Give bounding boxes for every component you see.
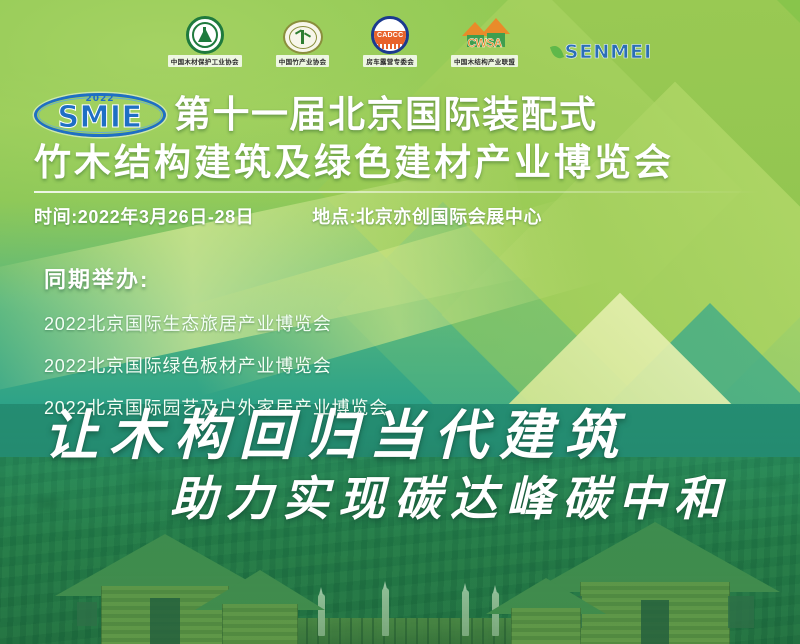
concurrent-events: 同期举办: 2022北京国际生态旅居产业博览会 2022北京国际绿色板材产业博览… — [44, 262, 388, 420]
concurrent-item: 2022北京国际生态旅居产业博览会 — [44, 310, 388, 336]
organizer-logo-strip: 中国木材保护工业协会 中国竹产业协会 CADCC 房车露营专委会 — [0, 0, 800, 76]
organizer-logo-bamboo-label: 中国竹产业协会 — [276, 55, 330, 67]
leaf-icon — [550, 44, 565, 61]
title-divider — [34, 191, 760, 193]
organizer-logo-cwsa[interactable]: CWSA 中国木结构产业联盟 — [451, 9, 518, 67]
house-roof-icon: CWSA — [458, 18, 512, 54]
pine-tree-seal-icon — [186, 16, 224, 54]
organizer-logo-senmei[interactable]: SENMEI — [552, 9, 652, 67]
concurrent-item: 2022北京国际绿色板材产业博览会 — [44, 352, 388, 378]
smie-logo: 2022 SMIE — [34, 92, 166, 138]
concurrent-heading: 同期举办: — [44, 262, 388, 294]
event-date: 时间:2022年3月26日-28日 — [34, 203, 254, 229]
organizer-logo-bamboo[interactable]: 中国竹产业协会 — [276, 9, 330, 67]
cadcc-abbr: CADCC — [377, 32, 403, 39]
organizer-logo-cadcc[interactable]: CADCC 房车露营专委会 — [363, 9, 417, 67]
event-venue: 地点:北京亦创国际会展中心 — [312, 203, 542, 229]
event-meta: 时间:2022年3月26日-28日 地点:北京亦创国际会展中心 — [34, 203, 780, 229]
organizer-logo-cwsa-label: 中国木结构产业联盟 — [451, 55, 518, 67]
leaf-wordmark-icon: SENMEI — [552, 37, 652, 67]
slogan-line-2: 助力实现碳达峰碳中和 — [170, 476, 800, 523]
senmei-wordmark: SENMEI — [565, 41, 653, 63]
slogan-line-1: 让木构回归当代建筑 — [44, 408, 800, 462]
page-title-line-1: 第十一届北京国际装配式 — [174, 95, 598, 134]
exhibition-poster: 中国木材保护工业协会 中国竹产业协会 CADCC 房车露营专委会 — [0, 0, 800, 644]
smie-acronym: SMIE — [57, 103, 142, 133]
slogan-block: 让木构回归当代建筑 助力实现碳达峰碳中和 — [0, 408, 800, 523]
cwsa-abbr: CWSA — [460, 36, 510, 50]
page-title-line-2: 竹木结构建筑及绿色建材产业博览会 — [34, 143, 780, 182]
bamboo-oval-seal-icon — [283, 20, 323, 54]
organizer-logo-cwpa[interactable]: 中国木材保护工业协会 — [168, 9, 242, 67]
title-block: 2022 SMIE 第十一届北京国际装配式 竹木结构建筑及绿色建材产业博览会 时… — [34, 92, 780, 229]
cadcc-badge-icon: CADCC — [371, 16, 409, 54]
organizer-logo-cwpa-label: 中国木材保护工业协会 — [168, 55, 242, 67]
organizer-logo-cadcc-label: 房车露营专委会 — [363, 55, 417, 67]
